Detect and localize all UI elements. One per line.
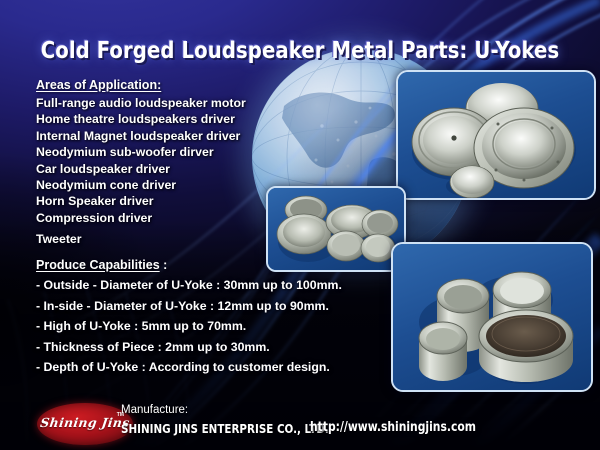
company-logo: Shining Jins TM <box>37 403 133 445</box>
capability-item: - Depth of U-Yoke : According to custome… <box>36 357 342 378</box>
product-photo-bottom-right <box>391 242 593 392</box>
capability-item: - Outside - Diameter of U-Yoke : 30mm up… <box>36 275 342 296</box>
application-item: Home theatre loudspeakers driver <box>36 111 246 127</box>
product-photo-middle <box>266 186 406 272</box>
page-title: Cold Forged Loudspeaker Metal Parts: U-Y… <box>15 38 585 64</box>
capability-item: - Thickness of Piece : 2mm up to 30mm. <box>36 337 342 358</box>
areas-of-application-block: Areas of Application: Full-range audio l… <box>36 78 246 248</box>
application-item: Car loudspeaker driver <box>36 161 246 177</box>
produce-capabilities-heading-suffix: : <box>160 258 168 272</box>
poster: Cold Forged Loudspeaker Metal Parts: U-Y… <box>0 0 600 450</box>
areas-of-application-heading: Areas of Application: <box>36 78 246 92</box>
produce-capabilities-block: Produce Capabilities : - Outside - Diame… <box>36 258 342 378</box>
company-name: SHINING JINS ENTERPRISE CO., LTD. <box>121 421 329 436</box>
application-item: Neodymium cone driver <box>36 177 246 193</box>
application-item: Neodymium sub-woofer dirver <box>36 144 246 160</box>
application-item: Full-range audio loudspeaker motor <box>36 95 246 111</box>
product-photo-top-right <box>396 70 596 200</box>
capability-item: - In-side - Diameter of U-Yoke : 12mm up… <box>36 296 342 317</box>
application-item: Horn Speaker driver <box>36 193 246 209</box>
application-item: Compression driver <box>36 210 246 226</box>
capability-item: - High of U-Yoke : 5mm up to 70mm. <box>36 316 342 337</box>
website-url[interactable]: http://www.shiningjins.com <box>310 420 476 435</box>
produce-capabilities-heading-text: Produce Capabilities <box>36 258 160 272</box>
manufacture-label: Manufacture: <box>121 404 188 416</box>
areas-of-application-heading-text: Areas of Application: <box>36 78 161 92</box>
application-item: Tweeter <box>36 231 246 247</box>
application-item: Internal Magnet loudspeaker driver <box>36 128 246 144</box>
